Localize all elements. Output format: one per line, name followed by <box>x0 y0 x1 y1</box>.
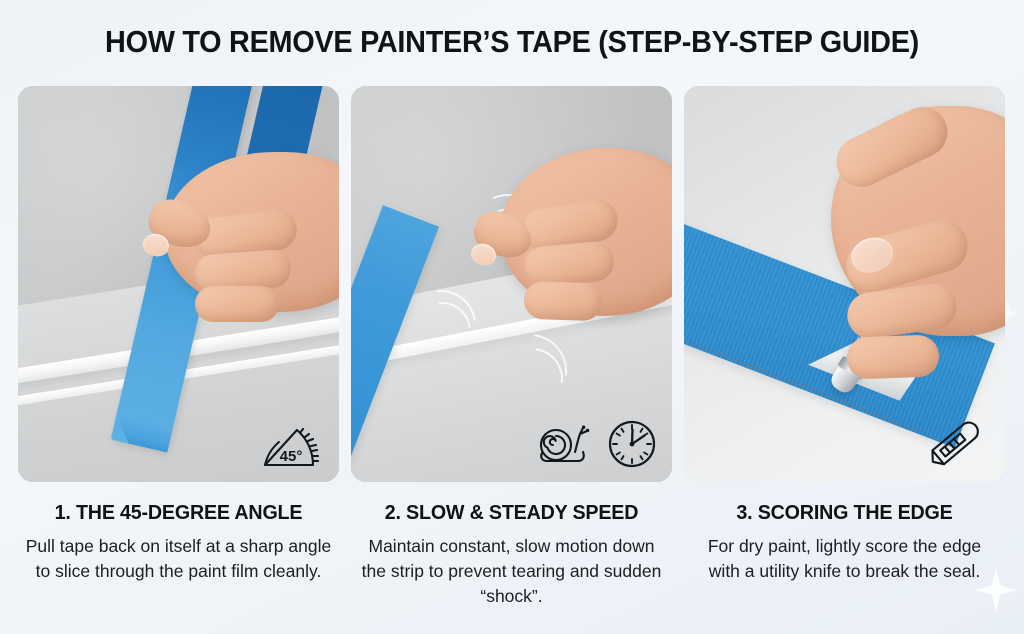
page-title: HOW TO REMOVE PAINTER’S TAPE (STEP-BY-ST… <box>36 24 988 60</box>
clock-icon <box>606 418 658 470</box>
protractor-icon: 45° <box>261 420 325 470</box>
step-3-photo <box>684 86 1005 482</box>
step-2-body: Maintain constant, slow motion down the … <box>351 534 672 609</box>
utility-knife-icon <box>925 414 991 470</box>
step-card-2: 2. SLOW & STEADY SPEED Maintain constant… <box>351 86 672 609</box>
step-1-caption: 1. THE 45-DEGREE ANGLE Pull tape back on… <box>18 482 339 584</box>
hand-finger <box>846 334 939 379</box>
steps-container: 45° 1. THE 45-DEGREE ANGLE Pull tape bac… <box>18 86 1006 609</box>
hand-finger <box>195 286 279 322</box>
step-2-caption: 2. SLOW & STEADY SPEED Maintain constant… <box>351 482 672 609</box>
step-1-icon-badge: 45° <box>261 420 325 470</box>
step-card-3: 3. SCORING THE EDGE For dry paint, light… <box>684 86 1005 609</box>
step-2-heading: 2. SLOW & STEADY SPEED <box>357 501 665 525</box>
snail-icon <box>534 421 594 467</box>
step-3-caption: 3. SCORING THE EDGE For dry paint, light… <box>684 482 1005 584</box>
step-2-photo <box>351 86 672 482</box>
infographic-poster: HOW TO REMOVE PAINTER’S TAPE (STEP-BY-ST… <box>0 0 1024 634</box>
step-3-icon-badge <box>925 414 991 470</box>
hand-finger <box>523 281 602 322</box>
step-3-body: For dry paint, lightly score the edge wi… <box>684 534 1005 584</box>
step-1-photo: 45° <box>18 86 339 482</box>
step-card-1: 45° 1. THE 45-DEGREE ANGLE Pull tape bac… <box>18 86 339 609</box>
step-1-body: Pull tape back on itself at a sharp angl… <box>18 534 339 584</box>
step-1-heading: 1. THE 45-DEGREE ANGLE <box>24 501 332 525</box>
protractor-angle-label: 45° <box>280 448 303 465</box>
step-3-heading: 3. SCORING THE EDGE <box>690 501 998 525</box>
step-2-icon-badge <box>534 418 658 470</box>
